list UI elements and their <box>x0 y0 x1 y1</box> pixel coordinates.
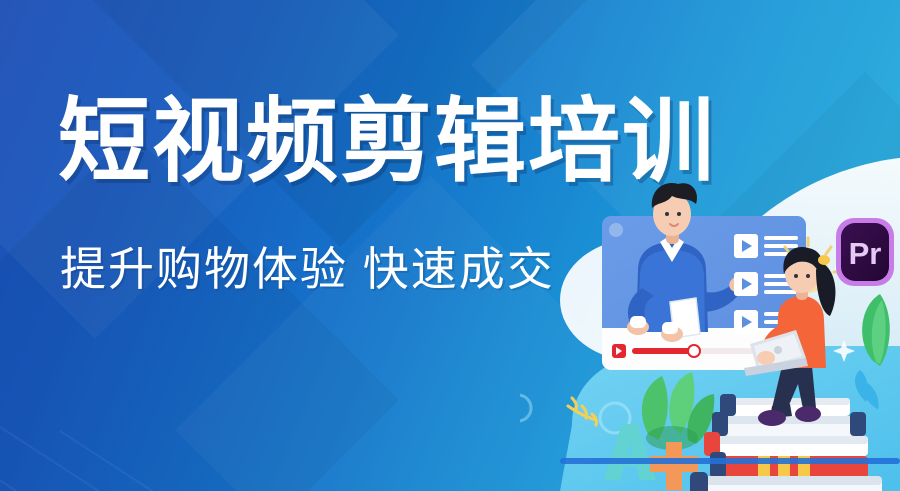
shoe <box>758 410 786 426</box>
bg-streak-2 <box>0 460 272 491</box>
bg-streak-1 <box>0 400 313 491</box>
premiere-pro-icon: Pr <box>836 218 894 286</box>
premiere-pro-label: Pr <box>849 236 882 271</box>
ground-line <box>560 458 900 464</box>
course-promo-banner: 短视频剪辑培训 提升购物体验 快速成交 <box>0 0 900 491</box>
bg-streak-3 <box>59 430 312 491</box>
course-illustration: Pr <box>520 150 900 491</box>
shoe <box>795 406 821 422</box>
page-subtitle: 提升购物体验 快速成交 <box>60 246 555 292</box>
circle-doodle-2 <box>520 395 531 421</box>
